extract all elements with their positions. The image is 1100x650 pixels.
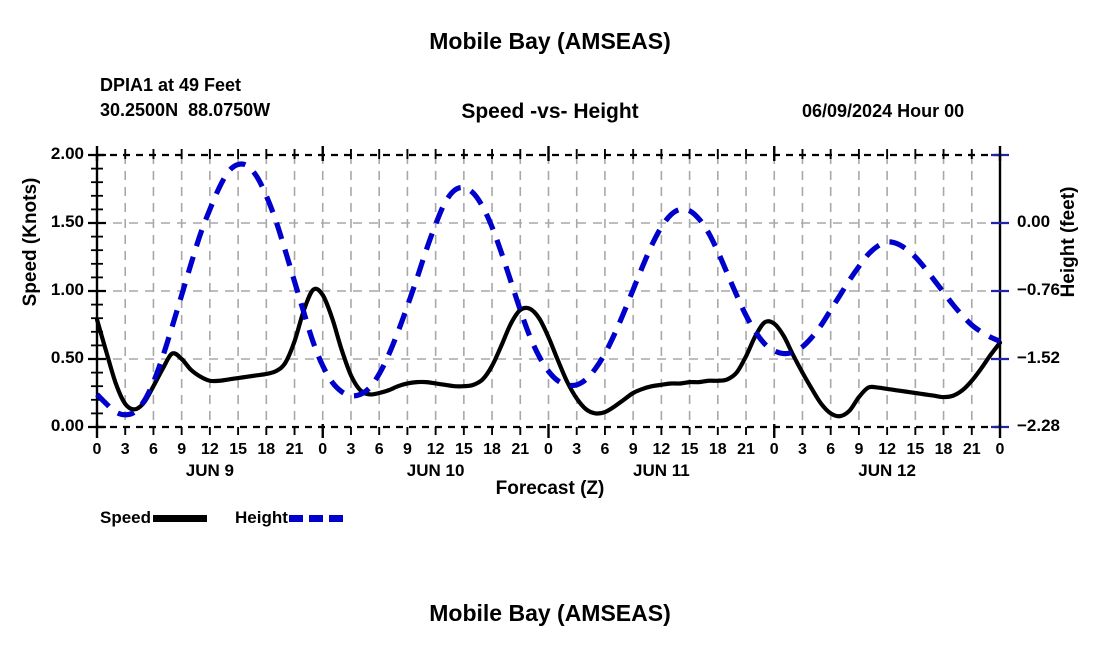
legend-item-speed: Speed [100, 508, 235, 528]
y2-tick-label: −2.28 [1017, 416, 1060, 436]
chart-legend: Speed Height [100, 508, 343, 528]
chart-page: Mobile Bay (AMSEAS) DPIA1 at 49 Feet 30.… [0, 0, 1100, 650]
x-axis-label: Forecast (Z) [0, 478, 1100, 500]
y-tick-label: 2.00 [28, 144, 84, 164]
y-axis-label-left: Speed (Knots) [20, 142, 42, 342]
page-title-bottom: Mobile Bay (AMSEAS) [0, 600, 1100, 627]
legend-label-height: Height [235, 508, 288, 528]
y-axis-label-right: Height (feet) [1058, 142, 1080, 342]
y-tick-label: 1.00 [28, 280, 84, 300]
y-tick-label: 0.00 [28, 416, 84, 436]
legend-swatch-speed-icon [153, 515, 207, 522]
x-day-label: JUN 12 [827, 461, 947, 481]
y-tick-label: 1.50 [28, 212, 84, 232]
gridlines [97, 155, 1000, 427]
y-tick-label: 0.50 [28, 348, 84, 368]
y2-tick-label: 0.00 [1017, 212, 1050, 232]
y2-tick-label: −1.52 [1017, 348, 1060, 368]
x-day-label: JUN 10 [376, 461, 496, 481]
legend-swatch-height-icon [289, 515, 343, 522]
legend-item-height: Height [235, 508, 343, 528]
x-tick-label: 0 [983, 441, 1017, 459]
plot-area: Speed (Knots) Height (feet) Forecast (Z)… [0, 0, 1100, 650]
plot-svg [0, 0, 1100, 650]
y2-tick-label: −0.76 [1017, 280, 1060, 300]
x-day-label: JUN 9 [150, 461, 270, 481]
x-day-label: JUN 11 [601, 461, 721, 481]
legend-label-speed: Speed [100, 508, 151, 528]
